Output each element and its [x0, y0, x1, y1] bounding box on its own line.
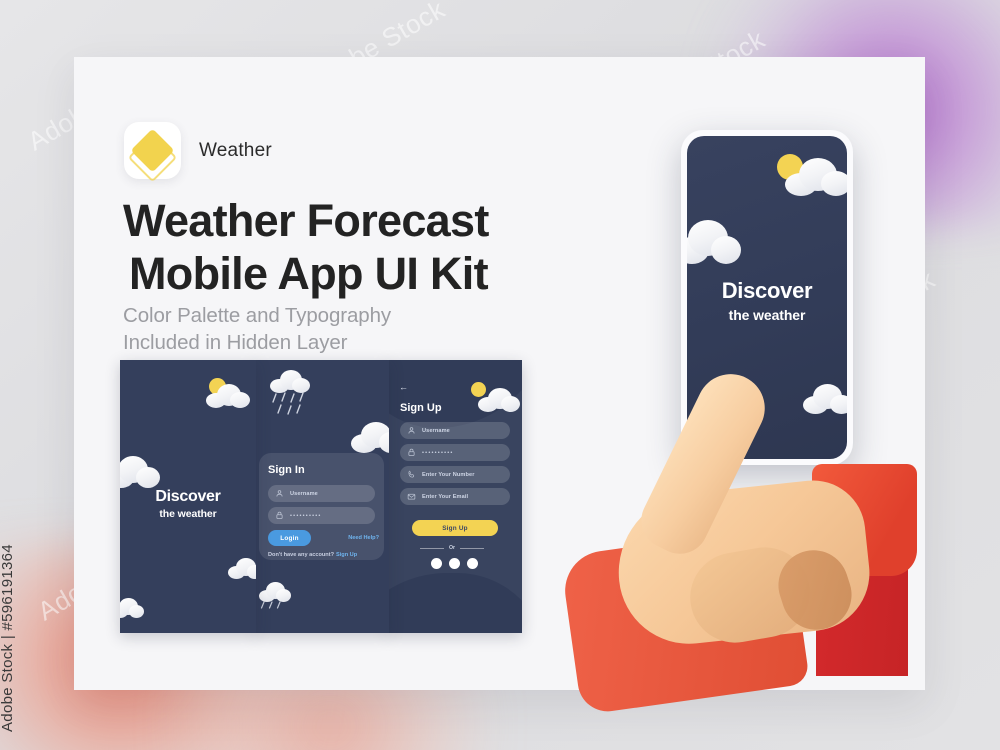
mockup-screen-splash[interactable]: Discover the weather: [120, 360, 256, 633]
username-placeholder: Username: [290, 491, 318, 497]
decorative-swirl: [387, 573, 522, 633]
user-icon: [407, 426, 416, 435]
mockup-strip: Discover the weather: [120, 360, 547, 633]
phone-placeholder: Enter Your Number: [422, 472, 474, 478]
email-field[interactable]: Enter Your Email: [400, 488, 510, 505]
phone-icon: [407, 470, 416, 479]
email-placeholder: Enter Your Email: [422, 494, 468, 500]
social-icon-1[interactable]: [431, 558, 442, 569]
hand-illustration: [530, 250, 950, 700]
rain-drops-icon: [272, 392, 314, 418]
cloud-icon: [351, 422, 389, 453]
back-arrow-icon[interactable]: ←: [399, 382, 408, 392]
username-field[interactable]: Username: [268, 485, 375, 502]
rain-cloud-icon: [259, 582, 291, 602]
social-icon-2[interactable]: [449, 558, 460, 569]
lock-icon: [407, 448, 416, 457]
stock-id-label: Adobe Stock | #596191364: [0, 544, 16, 732]
cloud-icon: [120, 456, 160, 488]
sign-up-title: Sign Up: [400, 402, 442, 414]
cloud-icon: [120, 598, 144, 618]
sign-up-link[interactable]: Sign Up: [336, 552, 357, 558]
splash-text-block: Discover the weather: [120, 488, 256, 520]
need-help-link[interactable]: Need Help?: [348, 535, 379, 541]
username-field[interactable]: Username: [400, 422, 510, 439]
mockup-screen-sign-up[interactable]: ← Sign Up Username •••••••••• Enter Your…: [387, 360, 522, 633]
social-login-buttons[interactable]: [431, 558, 478, 569]
page-title: Weather Forecast Mobile App UI Kit: [123, 195, 489, 300]
splash-subtitle: the weather: [120, 508, 256, 520]
mockup-screen-sign-in[interactable]: Sign In Username •••••••••• Login Need H…: [254, 360, 389, 633]
subheadline-line-1: Color Palette and Typography: [123, 302, 391, 329]
no-account-label: Don't have any account?: [268, 552, 334, 558]
cloud-icon: [785, 158, 847, 196]
user-icon: [275, 489, 284, 498]
cloud-icon: [206, 384, 250, 408]
diamond-logo-icon: [124, 122, 181, 179]
password-value: ••••••••••: [422, 450, 454, 456]
cloud-icon: [478, 388, 520, 412]
cloud-icon: [228, 558, 256, 579]
page-subtitle: Color Palette and Typography Included in…: [123, 302, 391, 356]
headline-line-1: Weather Forecast: [123, 195, 489, 246]
username-placeholder: Username: [422, 428, 450, 434]
mail-icon: [407, 492, 416, 501]
brand-name-label: Weather: [199, 140, 272, 162]
password-value: ••••••••••: [290, 513, 322, 519]
lock-icon: [275, 511, 284, 520]
subheadline-line-2: Included in Hidden Layer: [123, 329, 391, 356]
or-divider: Or: [420, 545, 484, 551]
password-field[interactable]: ••••••••••: [400, 444, 510, 461]
rain-cloud-icon: [270, 370, 310, 393]
login-button[interactable]: Login: [268, 530, 311, 546]
sign-in-title: Sign In: [268, 464, 305, 476]
headline-line-2: Mobile App UI Kit: [123, 248, 489, 301]
splash-title: Discover: [120, 488, 256, 506]
brand-logo-row: Weather: [124, 122, 272, 179]
or-label: Or: [449, 545, 455, 551]
rain-drops-icon: [260, 601, 292, 617]
phone-number-field[interactable]: Enter Your Number: [400, 466, 510, 483]
sign-up-button[interactable]: Sign Up: [412, 520, 498, 536]
social-icon-3[interactable]: [467, 558, 478, 569]
password-field[interactable]: ••••••••••: [268, 507, 375, 524]
